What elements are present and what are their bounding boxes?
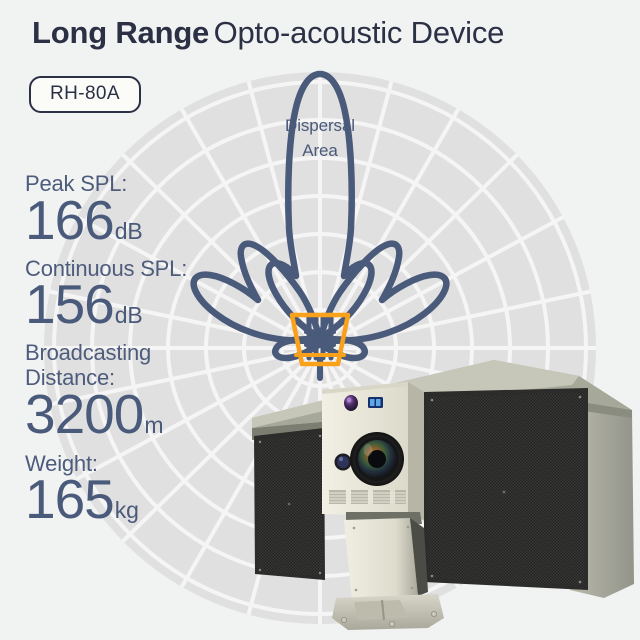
spec-unit: kg <box>115 497 139 524</box>
device-photo <box>232 352 640 640</box>
spec-value: 156 <box>25 277 114 332</box>
product-spec-infographic: Long Range Opto-acoustic Device RH-80A P… <box>0 0 640 640</box>
spec-label-line1: Broadcasting <box>25 341 275 366</box>
dispersal-area-label: Dispersal Area <box>262 114 378 163</box>
camera-module <box>322 382 424 520</box>
spec-list: Peak SPL: 166 dB Continuous SPL: 156 dB … <box>25 172 275 533</box>
main-camera-lens <box>350 432 404 486</box>
title-strong: Long Range <box>32 15 209 50</box>
spec-unit: dB <box>115 218 143 245</box>
dome-sensor-icon <box>344 395 358 411</box>
model-badge: RH-80A <box>29 76 141 113</box>
spec-weight: Weight: 165 kg <box>25 452 275 528</box>
title-light: Opto-acoustic Device <box>214 15 505 50</box>
speaker-grille-right <box>424 388 588 590</box>
spec-value: 3200 <box>25 387 143 442</box>
spec-peak-spl: Peak SPL: 166 dB <box>25 172 275 248</box>
spec-value-row: 156 dB <box>25 277 275 332</box>
spec-value: 165 <box>25 472 114 527</box>
spec-value-row: 166 dB <box>25 193 275 248</box>
page-title: Long Range Opto-acoustic Device <box>32 16 504 50</box>
dispersal-label-line1: Dispersal <box>262 114 378 139</box>
spec-continuous-spl: Continuous SPL: 156 dB <box>25 257 275 333</box>
spec-broadcasting-distance: Broadcasting Distance: 3200 m <box>25 341 275 441</box>
dispersal-label-line2: Area <box>262 139 378 164</box>
spec-unit: m <box>144 412 163 439</box>
spec-value: 166 <box>25 193 114 248</box>
spec-value-row: 3200 m <box>25 387 275 442</box>
spec-value-row: 165 kg <box>25 472 275 527</box>
spec-unit: dB <box>115 302 143 329</box>
